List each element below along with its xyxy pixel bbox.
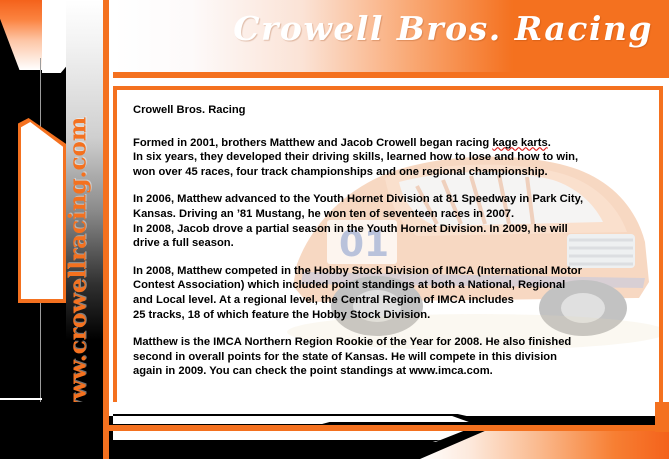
sidebar-white-nub-left xyxy=(0,398,42,400)
parallelogram-fill xyxy=(21,122,63,299)
p2-line-3: In 2008, Jacob drove a partial season in… xyxy=(133,223,568,235)
bottom-decoration xyxy=(0,402,669,459)
content-heading: Crowell Bros. Racing xyxy=(133,104,246,116)
content-heading-paragraph: Crowell Bros. Racing xyxy=(133,103,649,118)
p1-line-1-a: Formed in 2001, brothers Matthew and Jac… xyxy=(133,137,492,149)
bottom-orange-rule xyxy=(109,425,669,431)
p4-line-1: Matthew is the IMCA Northern Region Rook… xyxy=(133,336,571,348)
p1-misspelled-term: kage karts xyxy=(492,137,547,149)
p2-line-2: Kansas. Driving an ’81 Mustang, he won t… xyxy=(133,208,514,220)
site-url-vertical[interactable]: www.crowellracing.com xyxy=(65,0,92,420)
paragraph-2: In 2006, Matthew advanced to the Youth H… xyxy=(133,192,649,250)
header-banner: Crowell Bros. Racing xyxy=(113,0,669,72)
paragraph-4: Matthew is the IMCA Northern Region Rook… xyxy=(133,335,649,379)
p3-line-3: and Local level. At a regional level, th… xyxy=(133,294,514,306)
content-frame: 01 Crowell Bros. Racing Formed in 2001, … xyxy=(113,86,663,416)
p1-line-3: won over 45 races, four track championsh… xyxy=(133,166,548,178)
p3-line-2: Contest Association) which included poin… xyxy=(133,279,565,291)
page-root: www.crowellracing.com Crowell Bros. Raci… xyxy=(0,0,669,459)
p2-line-1: In 2006, Matthew advanced to the Youth H… xyxy=(133,193,583,205)
paragraph-3: In 2008, Matthew competed in the Hobby S… xyxy=(133,264,649,322)
p1-line-2: In six years, they developed their drivi… xyxy=(133,151,578,163)
p4-line-2: second in overall points for the state o… xyxy=(133,351,557,363)
p1-line-1-b: . xyxy=(548,137,551,149)
content-body: Crowell Bros. Racing Formed in 2001, bro… xyxy=(117,90,659,379)
bottom-sidebar-orange xyxy=(103,402,109,459)
p4-line-3: again in 2009. You can check the point s… xyxy=(133,365,493,377)
paragraph-1: Formed in 2001, brothers Matthew and Jac… xyxy=(133,136,649,180)
p2-line-4: drive a full season. xyxy=(133,237,234,249)
p3-line-4: 25 tracks, 18 of which feature the Hobby… xyxy=(133,309,430,321)
p3-line-1: In 2008, Matthew competed in the Hobby S… xyxy=(133,265,582,277)
sidebar-orange-divider xyxy=(103,0,109,459)
bottom-left-black-block xyxy=(0,402,109,459)
header-underline-rule xyxy=(113,72,669,78)
left-sidebar: www.crowellracing.com xyxy=(0,0,108,459)
bottom-white-top xyxy=(109,402,669,416)
bottom-right-orange-block xyxy=(655,402,669,432)
page-title: Crowell Bros. Racing xyxy=(233,9,653,48)
